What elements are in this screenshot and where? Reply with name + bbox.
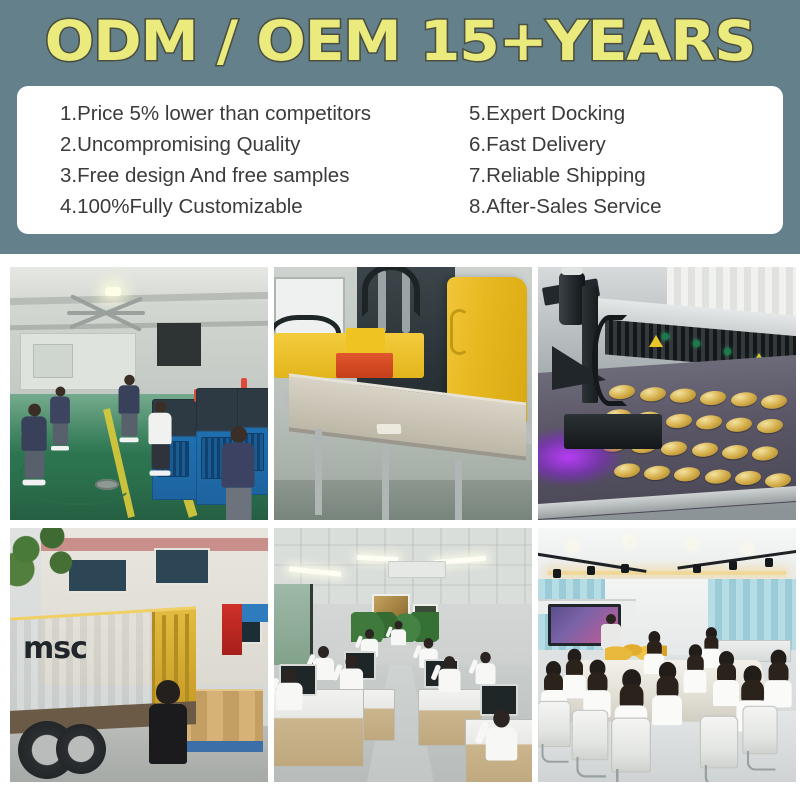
feature-item: 3.Free design And free samples — [60, 160, 453, 191]
photo-uv-printer: UV printer with purple curing light prin… — [538, 267, 796, 520]
photo-meeting-room: Training room with team seated at confer… — [538, 528, 796, 782]
photo-factory-floor: Factory workshop with CNC machines and w… — [10, 267, 268, 520]
promo-banner: ODM / OEM 15+YEARS 1.Price 5% lower than… — [0, 0, 800, 800]
photo-grid: Factory workshop with CNC machines and w… — [10, 267, 790, 790]
feature-item: 8.After-Sales Service — [469, 191, 783, 222]
features-column-right: 5.Expert Docking 6.Fast Delivery 7.Relia… — [453, 98, 783, 234]
feature-item: 1.Price 5% lower than competitors — [60, 98, 453, 129]
container-brand-label: msc — [23, 636, 87, 662]
feature-item: 6.Fast Delivery — [469, 129, 783, 160]
feature-item: 5.Expert Docking — [469, 98, 783, 129]
feature-item: 2.Uncompromising Quality — [60, 129, 453, 160]
feature-item: 7.Reliable Shipping — [469, 160, 783, 191]
photo-office-team: Open-plan office with staff in white shi… — [274, 528, 532, 782]
features-card: 1.Price 5% lower than competitors 2.Unco… — [17, 86, 783, 234]
photo-conveyor-machine: Yellow industrial press machine with con… — [274, 267, 532, 520]
header-band: ODM / OEM 15+YEARS 1.Price 5% lower than… — [0, 0, 800, 254]
feature-item: 4.100%Fully Customizable — [60, 191, 453, 222]
features-column-left: 1.Price 5% lower than competitors 2.Unco… — [17, 98, 453, 234]
page-title: ODM / OEM 15+YEARS — [0, 8, 800, 74]
photo-shipping-container: msc Yellow MSC shipping container loaded… — [10, 528, 268, 782]
